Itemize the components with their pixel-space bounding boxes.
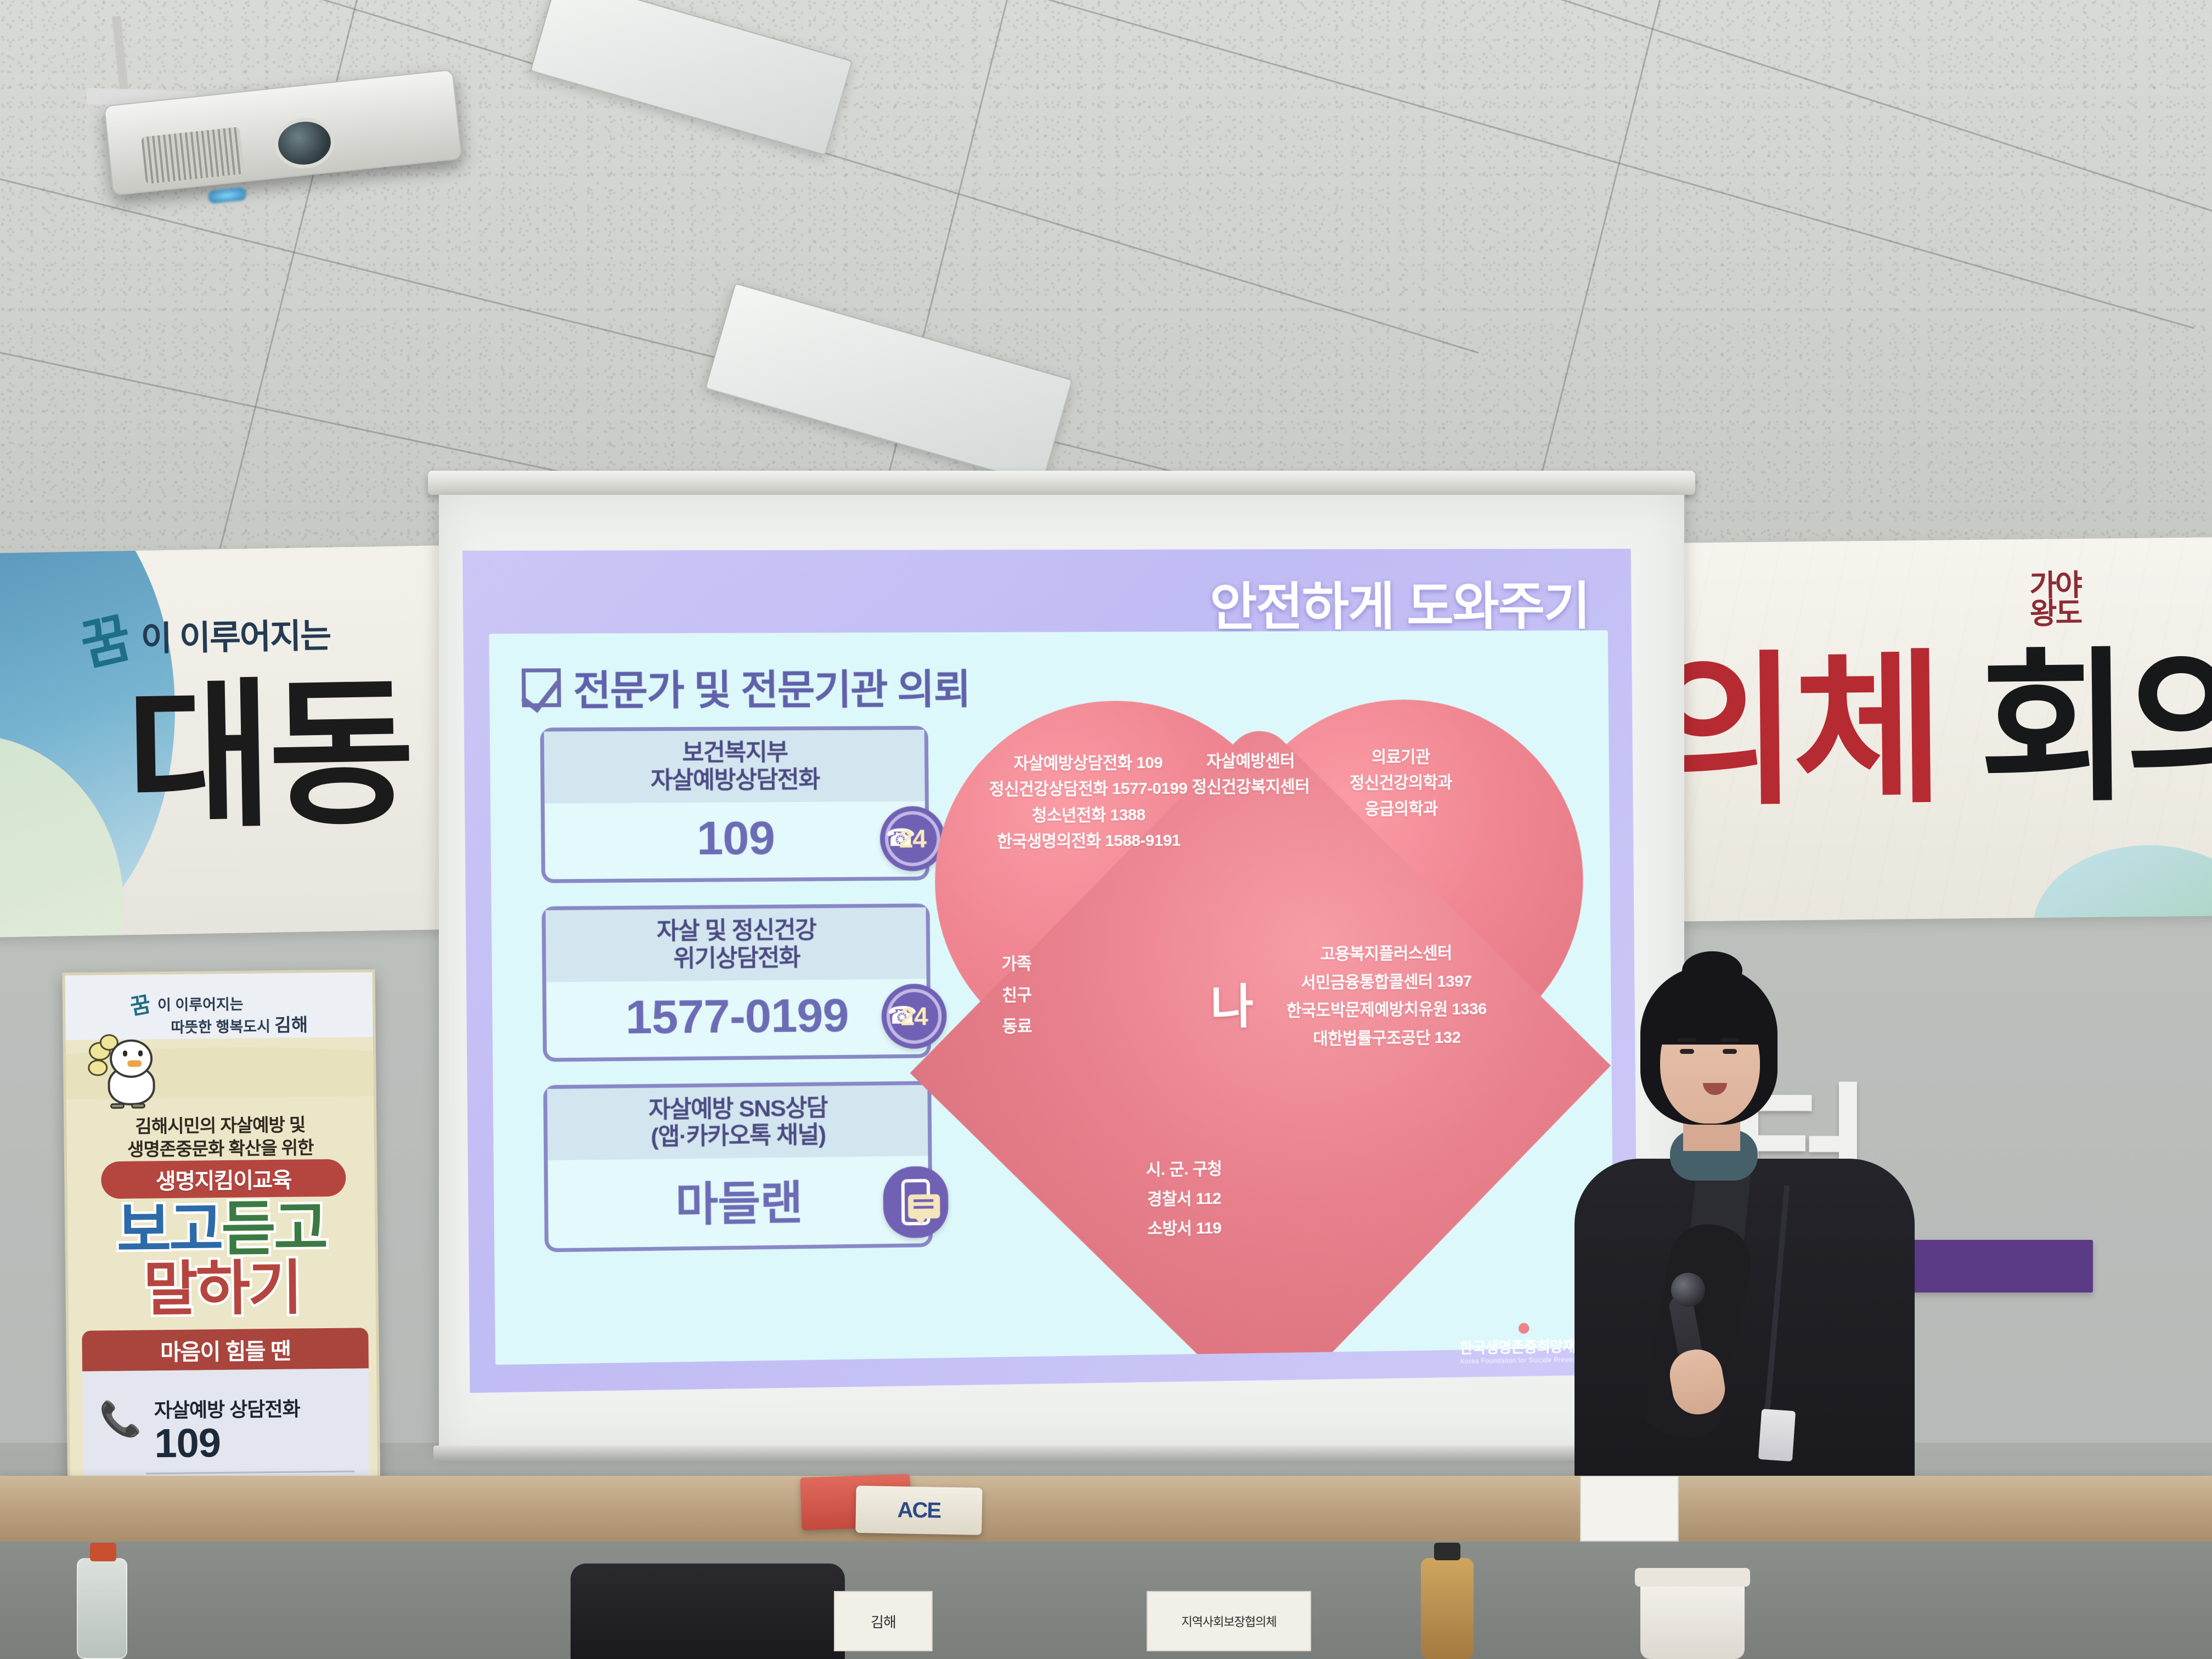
heart-line: 자살예방상담전화 109: [989, 750, 1187, 777]
phone-ringing-icon: 📞: [99, 1400, 142, 1440]
hotline-card-number: 109: [545, 801, 926, 879]
presenter-hair-bun: [1682, 951, 1742, 990]
mascot-beak: [127, 1060, 142, 1067]
bottle-cap: [1434, 1543, 1460, 1560]
hotline-card-number: 1577-0199: [546, 979, 927, 1058]
heart-label-people: 가족 친구 동료: [1002, 948, 1032, 1042]
hotline-card-list: 보건복지부 자살예방상담전화 109 ☎ 24: [540, 726, 944, 1276]
rollup-headline-1a: 보고: [116, 1196, 222, 1263]
heart-line: 대한법률구조공단 132: [1286, 1023, 1487, 1053]
rollup-headline-1: 보고듣고: [67, 1198, 375, 1261]
projector-body: [104, 69, 462, 196]
slide-title: 안전하게 도와주기: [1210, 565, 1590, 640]
hotline-card-head-line1: 자살 및 정신건강: [554, 916, 918, 947]
mascot-foot: [131, 1103, 145, 1108]
rollup-headline-1b: 듣고: [221, 1195, 326, 1262]
heart-label-medical: 의료기관 정신건강의학과 응급의학과: [1350, 744, 1453, 822]
heart-line: 응급의학과: [1350, 796, 1452, 822]
presenter-eyebrow: [1678, 1038, 1696, 1042]
heart-line: 고용복지플러스센터: [1286, 939, 1486, 968]
banner-headline: 의체 회의: [1646, 652, 2212, 806]
rollup-headline-2: 말하기: [68, 1257, 376, 1320]
slide-body: 전문가 및 전문기관 의뢰 보건복지부 자살예방상담전화 109: [489, 630, 1614, 1365]
support-network-heart: 자살예방상담전화 109 정신건강상담전화 1577-0199 청소년전화 13…: [933, 682, 1587, 1356]
rollup-contact1-label: 자살예방 상담전화: [154, 1393, 300, 1424]
water-bottle: [77, 1558, 127, 1659]
heart-line: 가족: [1002, 948, 1032, 980]
rollup-contact-header: 마음이 힘들 땐: [82, 1328, 369, 1371]
snack-bag: ACE: [855, 1486, 982, 1535]
bottle-cap: [90, 1543, 116, 1561]
projection-screen: 안전하게 도와주기 전문가 및 전문기관 의뢰 보건복지부 자살예방상담전화: [439, 483, 1684, 1470]
projector-vent: [141, 127, 244, 184]
front-desk-lower: [0, 1542, 2212, 1659]
banner-headline-red: 의체: [1646, 637, 1939, 825]
flower-petal: [88, 1059, 108, 1076]
presentation-slide: 안전하게 도와주기 전문가 및 전문기관 의뢰 보건복지부 자살예방상담전화: [462, 549, 1638, 1393]
heart-line: 경찰서 112: [1146, 1184, 1222, 1215]
heart-label-centers: 자살예방센터 정신건강복지센터: [1192, 748, 1310, 801]
slide-subtitle: 전문가 및 전문기관 의뢰: [573, 657, 970, 717]
badge-24-label: 24: [900, 1001, 928, 1031]
banner-title: 대동: [125, 680, 411, 832]
heart-line: 소방서 119: [1147, 1214, 1223, 1244]
hotline-card-head-line1: 자살예방 SNS상담: [555, 1093, 920, 1125]
banner-tag-line-1: 가야: [2029, 572, 2081, 600]
heart-line: 의료기관: [1350, 744, 1452, 770]
screen-bottom-bar: [433, 1446, 1690, 1461]
heart-line: 동료: [1002, 1011, 1032, 1042]
hotline-card-head-line2: 자살예방상담전화: [552, 766, 917, 795]
heart-labels: 자살예방상담전화 109 정신건강상담전화 1577-0199 청소년전화 13…: [933, 682, 1587, 1356]
mascot-foot: [110, 1103, 125, 1109]
table-poster: 지역사회보장협의체: [1147, 1591, 1311, 1651]
mascot-eye: [123, 1051, 127, 1057]
screen-surface: 안전하게 도와주기 전문가 및 전문기관 의뢰 보건복지부 자살예방상담전화: [439, 495, 1684, 1449]
banner-tag-line-2: 왕도: [2030, 600, 2081, 628]
rollup-line-2: 생명존중문화 확산을 위한: [67, 1132, 374, 1162]
banner-subtitle: 이 이루어지는: [140, 608, 331, 661]
hotline-card-head-line1: 보건복지부: [552, 738, 917, 768]
presenter-eyebrow: [1720, 1038, 1739, 1042]
rollup-program-pill: 생명지킴이교육: [101, 1159, 346, 1199]
heart-line: 자살예방센터: [1192, 748, 1310, 775]
wall-banner-meeting: 가야 왕도 의체 회의: [1605, 537, 2212, 922]
front-desk: [0, 1476, 2212, 1542]
presenter-eye: [1723, 1049, 1737, 1054]
heart-line: 정신건강의학과: [1350, 770, 1452, 796]
heart-line: 정신건강복지센터: [1192, 774, 1310, 800]
heart-label-welfare: 고용복지플러스센터 서민금융통합콜센터 1397 한국도박문제예방치유원 133…: [1286, 939, 1487, 1053]
rollup-divider: [146, 1470, 354, 1474]
rollup-contact1-number: 109: [154, 1419, 221, 1466]
banner-headline-black: 회의: [1978, 634, 2212, 821]
heart-label-emergency: 시. 군. 구청 경찰서 112 소방서 119: [1146, 1154, 1223, 1244]
heart-line: 정신건강상담전화 1577-0199: [989, 776, 1188, 803]
table-poster: 김해: [834, 1591, 933, 1651]
heart-line: 서민금융통합콜센터 1397: [1286, 967, 1486, 997]
paper-cup: [1640, 1580, 1745, 1659]
mobile-phone-glyph: [901, 1179, 930, 1226]
chair: [571, 1564, 845, 1659]
wall-notice-paper: [1580, 1476, 1679, 1542]
hotline-card[interactable]: 자살예방 SNS상담 (앱·카카오톡 채널) 마들랜: [543, 1081, 933, 1252]
slide-subtitle-row: 전문가 및 전문기관 의뢰: [522, 657, 970, 718]
hotline-card-head: 보건복지부 자살예방상담전화: [544, 730, 925, 803]
heart-line: 한국도박문제예방치유원 1336: [1286, 995, 1487, 1025]
hotline-card-head-line2: (앱·카카오톡 채널): [555, 1121, 920, 1153]
hotline-card-head: 자살 및 정신건강 위기상담전화: [545, 907, 926, 982]
mascot-icon: [88, 1034, 160, 1108]
mascot-eye: [138, 1050, 143, 1056]
projector-lens-icon: [272, 115, 337, 171]
presenter-id-badge: [1758, 1409, 1796, 1462]
hotline-card-head: 자살예방 SNS상담 (앱·카카오톡 채널): [547, 1085, 928, 1160]
heart-line: 시. 군. 구청: [1146, 1154, 1222, 1185]
hotline-card[interactable]: 보건복지부 자살예방상담전화 109 ☎ 24: [540, 726, 929, 883]
heart-line: 청소년전화 1388: [989, 802, 1188, 829]
checkbox-checked-icon: [522, 668, 561, 707]
screen-top-roller: [428, 471, 1695, 495]
chat-bubble-glyph: [908, 1194, 940, 1219]
hotline-card-number: 마들랜: [548, 1156, 929, 1249]
hotline-card-head-line2: 위기상담전화: [554, 944, 918, 974]
cup-lid: [1635, 1568, 1750, 1587]
hotline-card[interactable]: 자살 및 정신건강 위기상담전화 1577-0199 ☎ 24: [541, 904, 931, 1062]
banner-corner-tag: 가야 왕도: [2029, 572, 2081, 629]
heart-line: 한국생명의전화 1588-9191: [990, 828, 1188, 855]
room-photo-scene: 꿈 이 이루어지는 대동 가야 왕도 의체 회의 터 ENTER 안전하게 도와…: [0, 0, 2212, 1659]
presenter-hair-front: [1649, 992, 1769, 1045]
heart-line: 친구: [1002, 979, 1032, 1011]
heart-label-hotlines: 자살예방상담전화 109 정신건강상담전화 1577-0199 청소년전화 13…: [989, 750, 1188, 855]
presenter-eye: [1680, 1049, 1694, 1054]
beverage-bottle: [1421, 1558, 1474, 1659]
heart-center-label: 나: [1185, 968, 1278, 1037]
badge-24-label: 24: [899, 823, 926, 853]
logo-mark-icon: [1519, 1323, 1530, 1334]
